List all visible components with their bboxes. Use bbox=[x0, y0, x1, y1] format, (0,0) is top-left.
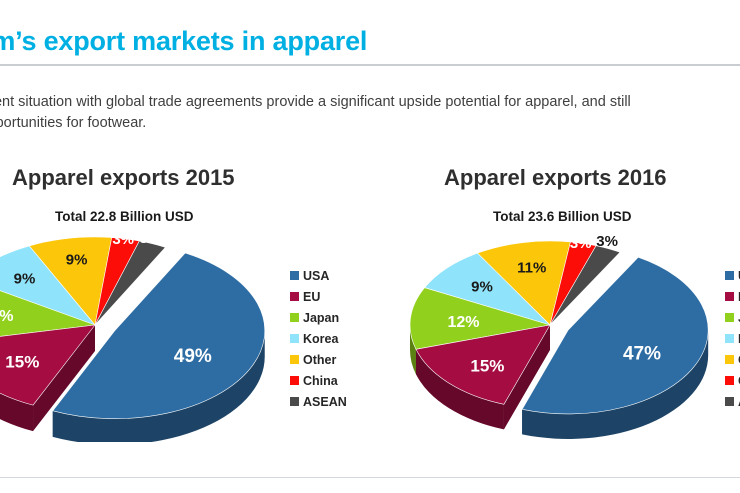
legend-item-other[interactable]: Other bbox=[290, 349, 380, 370]
legend-swatch-icon bbox=[725, 397, 734, 406]
header-divider bbox=[0, 64, 740, 66]
legend-swatch-icon bbox=[290, 355, 299, 364]
pie-value-label-korea: 9% bbox=[14, 270, 36, 287]
pie-value-label-asean: 3% bbox=[139, 230, 161, 247]
legend-item-korea[interactable]: Korea bbox=[725, 328, 740, 349]
legend-item-usa[interactable]: USA bbox=[290, 265, 380, 286]
slide-canvas: Vietnam’s export markets in apparel The … bbox=[0, 0, 740, 493]
legend-item-japan[interactable]: Japan bbox=[290, 307, 380, 328]
legend-swatch-icon bbox=[290, 271, 299, 280]
legend-swatch-icon bbox=[725, 355, 734, 364]
legend-swatch-icon bbox=[290, 397, 299, 406]
legend-swatch-icon bbox=[290, 292, 299, 301]
pie-value-label-usa: 49% bbox=[174, 346, 212, 367]
legend-item-eu[interactable]: EU bbox=[290, 286, 380, 307]
legend-swatch-icon bbox=[725, 334, 734, 343]
page-title: Vietnam’s export markets in apparel bbox=[0, 26, 740, 57]
legend-swatch-icon bbox=[290, 376, 299, 385]
chart-title-2015: Apparel exports 2015 bbox=[12, 165, 235, 191]
pie-value-label-other: 9% bbox=[66, 252, 88, 269]
legend-item-usa[interactable]: USA bbox=[725, 265, 740, 286]
chart-total-2016: Total 23.6 Billion USD bbox=[493, 209, 632, 224]
legend-label: ASEAN bbox=[303, 395, 347, 409]
pie-value-label-eu: 15% bbox=[470, 356, 504, 375]
legend-swatch-icon bbox=[725, 313, 734, 322]
legend-swatch-icon bbox=[725, 292, 734, 301]
slide-subtitle: The current situation with global trade … bbox=[0, 92, 740, 134]
legend-label: USA bbox=[303, 269, 329, 283]
pie-value-label-eu: 15% bbox=[5, 352, 39, 371]
legend-swatch-icon bbox=[290, 313, 299, 322]
legend-label: EU bbox=[303, 290, 320, 304]
legend-item-china[interactable]: China bbox=[290, 370, 380, 391]
legend-item-japan[interactable]: Japan bbox=[725, 307, 740, 328]
chart-total-2015: Total 22.8 Billion USD bbox=[55, 209, 194, 224]
legend-item-korea[interactable]: Korea bbox=[290, 328, 380, 349]
legend-swatch-icon bbox=[725, 271, 734, 280]
pie-value-label-other: 11% bbox=[517, 260, 546, 277]
legend-label: Korea bbox=[303, 332, 338, 346]
legend-item-other[interactable]: Other bbox=[725, 349, 740, 370]
legend-item-eu[interactable]: EU bbox=[725, 286, 740, 307]
legend-swatch-icon bbox=[725, 376, 734, 385]
legend-label: Japan bbox=[303, 311, 339, 325]
pie-value-label-japan: 12% bbox=[0, 308, 14, 325]
legend-item-asean[interactable]: ASEAN bbox=[725, 391, 740, 412]
legend-swatch-icon bbox=[290, 334, 299, 343]
chart-block-2016: Apparel exports 2016 Total 23.6 Billion … bbox=[400, 155, 740, 455]
chart-block-2015: Apparel exports 2015 Total 22.8 Billion … bbox=[0, 155, 390, 455]
pie-value-label-china: 3% bbox=[570, 235, 592, 252]
legend-2015: USAEUJapanKoreaOtherChinaASEAN bbox=[290, 265, 380, 412]
pie-value-label-china: 3% bbox=[112, 231, 134, 248]
legend-2016: USAEUJapanKoreaOtherChinaASEAN bbox=[725, 265, 740, 412]
pie-value-label-korea: 9% bbox=[471, 278, 493, 295]
pie-value-label-usa: 47% bbox=[623, 343, 661, 364]
pie-svg: 49%15%12%9%9%3%3% bbox=[0, 227, 300, 442]
pie-chart-2016: 47%15%12%9%11%3%3% bbox=[400, 227, 730, 442]
pie-chart-2015: 49%15%12%9%9%3%3% bbox=[0, 227, 300, 442]
chart-title-2016: Apparel exports 2016 bbox=[444, 165, 667, 191]
legend-item-asean[interactable]: ASEAN bbox=[290, 391, 380, 412]
pie-svg: 47%15%12%9%11%3%3% bbox=[400, 227, 730, 442]
legend-item-china[interactable]: China bbox=[725, 370, 740, 391]
footer-divider bbox=[0, 477, 740, 478]
legend-label: Other bbox=[303, 353, 336, 367]
pie-value-label-asean: 3% bbox=[596, 233, 618, 250]
legend-label: China bbox=[303, 374, 338, 388]
pie-value-label-japan: 12% bbox=[447, 314, 479, 331]
